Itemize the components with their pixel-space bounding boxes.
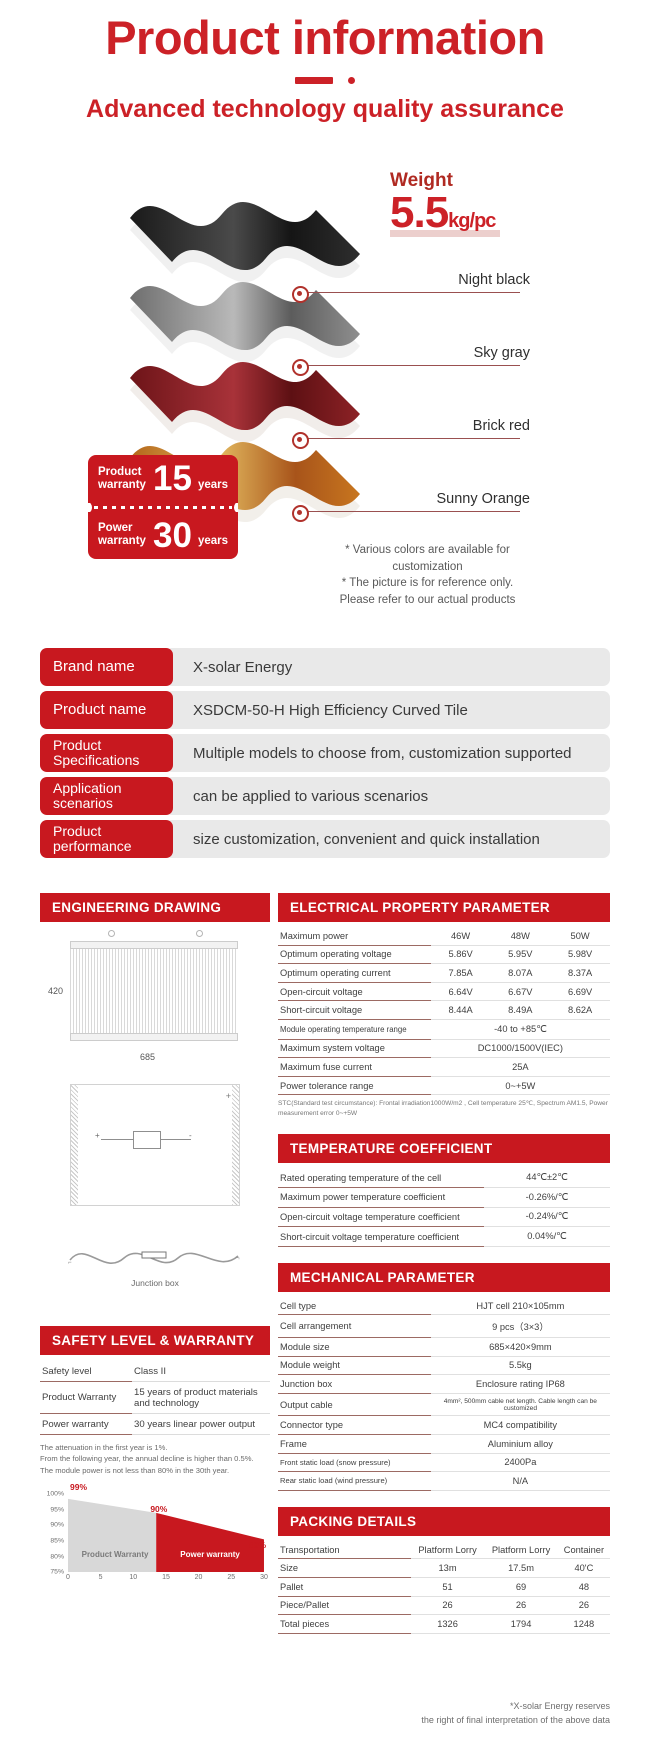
row-value: 4mm², 500mm cable net length. Cable leng… xyxy=(431,1393,610,1416)
row-value: DC1000/1500V(IEC) xyxy=(431,1039,610,1058)
footer-line-1: *X-solar Energy reserves xyxy=(510,1701,610,1711)
row-value: 17.5m xyxy=(484,1559,558,1578)
row-value: 15 years of product materials and techno… xyxy=(132,1382,270,1414)
product-spec-list: Brand name X-solar Energy Product name X… xyxy=(40,648,610,863)
chart-series-product-warranty xyxy=(68,1494,156,1572)
row-value: 5.95V xyxy=(490,945,550,964)
mechanical-heading: MECHANICAL PARAMETER xyxy=(278,1263,610,1292)
drawing-edge-bottom xyxy=(70,1033,238,1041)
drawing-lead-right xyxy=(157,1139,191,1140)
drawing-side-profile: ⌐ ¬ xyxy=(66,1234,244,1280)
table-row: Rated operating temperature of the cell … xyxy=(278,1168,610,1187)
disclaimer-line-3: * The picture is for reference only. xyxy=(342,577,514,589)
row-value: 25A xyxy=(431,1058,610,1077)
row-value: 40'C xyxy=(558,1559,610,1578)
weight-number: 5.5 xyxy=(390,188,448,237)
callout-dot-icon xyxy=(292,505,309,522)
table-row: Safety level Class II xyxy=(40,1361,270,1382)
badge-text: Product warranty xyxy=(98,466,147,492)
disclaimer-line-1: * Various colors are available for xyxy=(345,544,510,556)
row-value: -40 to +85℃ xyxy=(431,1019,610,1039)
row-label: Frame xyxy=(278,1434,431,1453)
spec-key: Product name xyxy=(40,691,173,729)
color-label: Brick red xyxy=(473,418,530,434)
badge-text-line1: Product xyxy=(98,466,141,478)
row-label: Rear static load (wind pressure) xyxy=(278,1472,431,1491)
table-row: Open-circuit voltage temperature coeffic… xyxy=(278,1207,610,1227)
table-row: Power tolerance range 0~+5W xyxy=(278,1076,610,1095)
row-label: Transportation xyxy=(278,1541,411,1559)
table-row: Size 13m 17.5m 40'C xyxy=(278,1559,610,1578)
row-label: Maximum power xyxy=(278,927,431,945)
row-value: Container xyxy=(558,1541,610,1559)
table-row: Open-circuit voltage 6.64V 6.67V 6.69V xyxy=(278,982,610,1001)
table-row: Total pieces 1326 1794 1248 xyxy=(278,1615,610,1634)
engineering-drawing-heading: ENGINEERING DRAWING xyxy=(40,893,270,922)
dimension-height-label: 420 xyxy=(48,986,63,996)
row-value: 9 pcs（3×3） xyxy=(431,1315,610,1338)
weight-unit: kg/pc xyxy=(448,210,495,232)
drawing-plus-marker: + xyxy=(95,1131,100,1140)
spec-value: can be applied to various scenarios xyxy=(165,777,610,815)
color-label: Sky gray xyxy=(474,345,530,361)
chart-y-axis: 100% 95% 90% 85% 80% 75% xyxy=(40,1494,66,1572)
y-tick: 85% xyxy=(50,1537,64,1544)
row-value: 5.86V xyxy=(431,945,491,964)
svg-text:¬: ¬ xyxy=(236,1256,240,1262)
row-value: Aluminium alloy xyxy=(431,1434,610,1453)
product-warranty-badge: Product warranty 15 years xyxy=(88,455,238,503)
row-label: Total pieces xyxy=(278,1615,411,1634)
row-label: Safety level xyxy=(40,1361,132,1382)
row-value: 1326 xyxy=(411,1615,485,1634)
row-value: 6.69V xyxy=(550,982,610,1001)
row-label: Short-circuit voltage temperature coeffi… xyxy=(278,1227,484,1247)
row-value: 0.04%/℃ xyxy=(484,1227,610,1247)
table-row: Product Warranty 15 years of product mat… xyxy=(40,1382,270,1414)
color-label: Sunny Orange xyxy=(436,491,530,507)
left-column: ENGINEERING DRAWING 420 685 + + - ⌐ ¬ Ju… xyxy=(40,893,270,1594)
chart-annotation-99: 99% xyxy=(70,1482,87,1492)
row-label: Power warranty xyxy=(40,1414,132,1435)
spec-row-product-name: Product name XSDCM-50-H High Efficiency … xyxy=(40,691,610,729)
table-row: Cell arrangement 9 pcs（3×3） xyxy=(278,1315,610,1338)
spec-row-product-specifications: ProductSpecifications Multiple models to… xyxy=(40,734,610,772)
row-value: Class II xyxy=(132,1361,270,1382)
dimension-width-label: 685 xyxy=(140,1052,155,1062)
product-hero: Weight 5.5kg/pc Night black Sky gray Bri… xyxy=(0,160,650,630)
y-tick: 75% xyxy=(50,1569,64,1576)
callout-line xyxy=(300,511,520,512)
spec-row-brand-name: Brand name X-solar Energy xyxy=(40,648,610,686)
row-value: 50W xyxy=(550,927,610,945)
electrical-note: STC(Standard test circumstance): Frontal… xyxy=(278,1099,610,1118)
callout-line xyxy=(300,438,520,439)
x-tick: 20 xyxy=(195,1574,203,1581)
safety-warranty-table: Safety level Class II Product Warranty 1… xyxy=(40,1361,270,1476)
row-value: 1794 xyxy=(484,1615,558,1634)
row-value: 44℃±2℃ xyxy=(484,1168,610,1187)
temperature-table: Rated operating temperature of the cell … xyxy=(278,1168,610,1246)
weight-callout: Weight 5.5kg/pc xyxy=(390,170,590,237)
row-value: 48 xyxy=(558,1577,610,1596)
row-value: 51 xyxy=(411,1577,485,1596)
packing-heading: PACKING DETAILS xyxy=(278,1507,610,1536)
row-value: 6.64V xyxy=(431,982,491,1001)
table-row: Junction box Enclosure rating IP68 xyxy=(278,1375,610,1394)
y-tick: 90% xyxy=(50,1522,64,1529)
row-label: Maximum system voltage xyxy=(278,1039,431,1058)
chart-series-label-power: Power warranty xyxy=(166,1550,254,1559)
row-value: 8.07A xyxy=(490,964,550,983)
row-value: 0~+5W xyxy=(431,1076,610,1095)
table-row: Connector type MC4 compatibility xyxy=(278,1416,610,1435)
row-label: Rated operating temperature of the cell xyxy=(278,1168,484,1187)
drawing-top-view xyxy=(70,942,238,1040)
page-title: Product information xyxy=(0,14,650,61)
row-label: Optimum operating current xyxy=(278,964,431,983)
spec-value: XSDCM-50-H High Efficiency Curved Tile xyxy=(165,691,610,729)
table-row: Cell type HJT cell 210×105mm xyxy=(278,1297,610,1315)
safety-note-line-2: From the following year, the annual decl… xyxy=(40,1454,254,1463)
badge-text-line2: warranty xyxy=(98,479,146,491)
row-label: Short-circuit voltage xyxy=(278,1001,431,1020)
row-label: Front static load (snow pressure) xyxy=(278,1453,431,1472)
table-row: Short-circuit voltage temperature coeffi… xyxy=(278,1227,610,1247)
spec-row-product-performance: Productperformance size customization, c… xyxy=(40,820,610,858)
row-label: Maximum fuse current xyxy=(278,1058,431,1077)
notch-left xyxy=(88,503,92,512)
right-column: ELECTRICAL PROPERTY PARAMETER Maximum po… xyxy=(278,893,610,1634)
table-row: Rear static load (wind pressure) N/A xyxy=(278,1472,610,1491)
row-label: Open-circuit voltage xyxy=(278,982,431,1001)
x-tick: 10 xyxy=(129,1574,137,1581)
table-row: Piece/Pallet 26 26 26 xyxy=(278,1596,610,1615)
row-label: Connector type xyxy=(278,1416,431,1435)
power-warranty-badge: Power warranty 30 years xyxy=(88,512,238,560)
power-degradation-chart: 100% 95% 90% 85% 80% 75% Product Warrant… xyxy=(40,1486,270,1594)
weight-value: 5.5kg/pc xyxy=(390,192,590,234)
drawing-hole-icon xyxy=(196,930,203,937)
row-value: 26 xyxy=(411,1596,485,1615)
row-value: 8.62A xyxy=(550,1001,610,1020)
color-label: Night black xyxy=(458,272,530,288)
row-label: Size xyxy=(278,1559,411,1578)
spec-key: Productperformance xyxy=(40,820,173,858)
row-value: N/A xyxy=(431,1472,610,1491)
page-subtitle: Advanced technology quality assurance xyxy=(0,95,650,124)
x-tick: 5 xyxy=(99,1574,103,1581)
warranty-badges: Product warranty 15 years Power warranty… xyxy=(88,455,238,559)
row-value: 26 xyxy=(484,1596,558,1615)
row-label: Cell arrangement xyxy=(278,1315,431,1338)
table-row: Optimum operating voltage 5.86V 5.95V 5.… xyxy=(278,945,610,964)
row-value: 46W xyxy=(431,927,491,945)
row-label: Junction box xyxy=(278,1375,431,1394)
row-value: 685×420×9mm xyxy=(431,1338,610,1357)
y-tick: 80% xyxy=(50,1553,64,1560)
disclaimer-line-4: Please refer to our actual products xyxy=(340,594,516,606)
row-label: Pallet xyxy=(278,1577,411,1596)
row-value: 6.67V xyxy=(490,982,550,1001)
x-tick: 25 xyxy=(227,1574,235,1581)
row-value: Enclosure rating IP68 xyxy=(431,1375,610,1394)
table-row: Optimum operating current 7.85A 8.07A 8.… xyxy=(278,964,610,983)
page-header: Product information Advanced technology … xyxy=(0,14,650,124)
spec-key: Brand name xyxy=(40,648,173,686)
row-value: HJT cell 210×105mm xyxy=(431,1297,610,1315)
row-label: Module operating temperature range xyxy=(278,1019,431,1039)
drawing-lead-left xyxy=(101,1139,135,1140)
drawing-hole-icon xyxy=(108,930,115,937)
table-row: Output cable 4mm², 500mm cable net lengt… xyxy=(278,1393,610,1416)
drawing-minus-marker: - xyxy=(189,1131,192,1140)
row-label: Module weight xyxy=(278,1356,431,1375)
chart-annotation-80: 80% xyxy=(249,1540,266,1550)
drawing-side-right xyxy=(232,1085,239,1205)
chart-plot-area: Product Warranty Power warranty 99% 90% … xyxy=(68,1494,264,1572)
footer-line-2: the right of final interpretation of the… xyxy=(421,1715,610,1725)
row-label: Open-circuit voltage temperature coeffic… xyxy=(278,1207,484,1227)
badge-number: 15 xyxy=(153,463,192,495)
callout-line xyxy=(300,292,520,293)
row-value: Platform Lorry xyxy=(484,1541,558,1559)
safety-note-line-3: The module power is not less than 80% in… xyxy=(40,1466,229,1475)
row-value: 8.37A xyxy=(550,964,610,983)
x-tick: 30 xyxy=(260,1574,268,1581)
disclaimer-line-2: customization xyxy=(392,561,462,573)
spec-value: Multiple models to choose from, customiz… xyxy=(165,734,610,772)
row-label: Piece/Pallet xyxy=(278,1596,411,1615)
badge-text-line2: warranty xyxy=(98,535,146,547)
spec-value: X-solar Energy xyxy=(165,648,610,686)
row-label: Cell type xyxy=(278,1297,431,1315)
row-value: -0.26%/℃ xyxy=(484,1188,610,1208)
row-value: 5.5kg xyxy=(431,1356,610,1375)
row-value: 2400Pa xyxy=(431,1453,610,1472)
row-value: 48W xyxy=(490,927,550,945)
x-tick: 0 xyxy=(66,1574,70,1581)
spec-row-application-scenarios: Applicationscenarios can be applied to v… xyxy=(40,777,610,815)
row-value: 5.98V xyxy=(550,945,610,964)
row-value: 1248 xyxy=(558,1615,610,1634)
badge-number: 30 xyxy=(153,520,192,552)
spacer xyxy=(278,1491,610,1507)
chart-series-label-product: Product Warranty xyxy=(76,1550,154,1559)
row-label: Optimum operating voltage xyxy=(278,945,431,964)
safety-note-line-1: The attenuation in the first year is 1%. xyxy=(40,1443,167,1452)
spec-value: size customization, convenient and quick… xyxy=(165,820,610,858)
callout-line xyxy=(300,365,520,366)
temperature-heading: TEMPERATURE COEFFICIENT xyxy=(278,1134,610,1163)
row-value: MC4 compatibility xyxy=(431,1416,610,1435)
spacer xyxy=(278,1247,610,1263)
badge-unit: years xyxy=(198,535,228,551)
callout-dot-icon xyxy=(292,286,309,303)
chart-series-power-warranty xyxy=(156,1494,264,1572)
electrical-heading: ELECTRICAL PROPERTY PARAMETER xyxy=(278,893,610,922)
table-row: Maximum fuse current 25A xyxy=(278,1058,610,1077)
footer-disclaimer: *X-solar Energy reserves the right of fi… xyxy=(278,1700,610,1727)
row-value: -0.24%/℃ xyxy=(484,1207,610,1227)
engineering-drawing: 420 685 + + - ⌐ ¬ Junction box xyxy=(40,934,270,1324)
row-label: Product Warranty xyxy=(40,1382,132,1414)
divider-bar xyxy=(295,77,333,84)
table-row: Module operating temperature range -40 t… xyxy=(278,1019,610,1039)
callout-dot-icon xyxy=(292,359,309,376)
spec-key: Applicationscenarios xyxy=(40,777,173,815)
table-row: Short-circuit voltage 8.44A 8.49A 8.62A xyxy=(278,1001,610,1020)
drawing-back-view: + + - xyxy=(70,1084,240,1206)
hero-disclaimer: * Various colors are available for custo… xyxy=(325,542,530,609)
mechanical-table: Cell type HJT cell 210×105mm Cell arrang… xyxy=(278,1297,610,1491)
table-row: Maximum system voltage DC1000/1500V(IEC) xyxy=(278,1039,610,1058)
table-row: Frame Aluminium alloy xyxy=(278,1434,610,1453)
row-label: Maximum power temperature coefficient xyxy=(278,1188,484,1208)
row-value: Platform Lorry xyxy=(411,1541,485,1559)
table-row: Front static load (snow pressure) 2400Pa xyxy=(278,1453,610,1472)
junction-box-label: Junction box xyxy=(66,1278,244,1288)
spacer xyxy=(278,1118,610,1134)
callout-dot-icon xyxy=(292,432,309,449)
badge-separator xyxy=(88,503,238,512)
row-label: Output cable xyxy=(278,1393,431,1416)
dashed-line xyxy=(94,506,232,509)
spec-key: ProductSpecifications xyxy=(40,734,173,772)
electrical-table: Maximum power 46W 48W 50W Optimum operat… xyxy=(278,927,610,1095)
row-value: 69 xyxy=(484,1577,558,1596)
title-divider xyxy=(295,75,355,85)
drawing-corner-marker: + xyxy=(226,1091,231,1101)
y-tick: 100% xyxy=(47,1491,64,1498)
badge-text: Power warranty xyxy=(98,522,147,548)
drawing-side-left xyxy=(71,1085,78,1205)
table-row: Module weight 5.5kg xyxy=(278,1356,610,1375)
table-row: Power warranty 30 years linear power out… xyxy=(40,1414,270,1435)
table-row: Module size 685×420×9mm xyxy=(278,1338,610,1357)
row-label: Module size xyxy=(278,1338,431,1357)
table-row: Maximum power temperature coefficient -0… xyxy=(278,1188,610,1208)
row-value: 26 xyxy=(558,1596,610,1615)
table-row: Pallet 51 69 48 xyxy=(278,1577,610,1596)
chart-annotation-90: 90% xyxy=(150,1504,167,1514)
x-tick: 15 xyxy=(162,1574,170,1581)
badge-text-line1: Power xyxy=(98,522,133,534)
table-row: Maximum power 46W 48W 50W xyxy=(278,927,610,945)
drawing-edge-top xyxy=(70,941,238,949)
badge-unit: years xyxy=(198,479,228,495)
row-value: 13m xyxy=(411,1559,485,1578)
packing-table: Transportation Platform Lorry Platform L… xyxy=(278,1541,610,1634)
notch-right xyxy=(234,503,238,512)
y-tick: 95% xyxy=(50,1506,64,1513)
row-label: Power tolerance range xyxy=(278,1076,431,1095)
safety-note: The attenuation in the first year is 1%.… xyxy=(40,1442,270,1476)
safety-warranty-heading: SAFETY LEVEL & WARRANTY xyxy=(40,1326,270,1355)
svg-text:⌐: ⌐ xyxy=(68,1260,72,1266)
drawing-junction-box xyxy=(133,1131,161,1149)
row-value: 8.44A xyxy=(431,1001,491,1020)
table-row: Transportation Platform Lorry Platform L… xyxy=(278,1541,610,1559)
row-value: 8.49A xyxy=(490,1001,550,1020)
row-value: 7.85A xyxy=(431,964,491,983)
divider-dot xyxy=(348,77,355,84)
row-value: 30 years linear power output xyxy=(132,1414,270,1435)
